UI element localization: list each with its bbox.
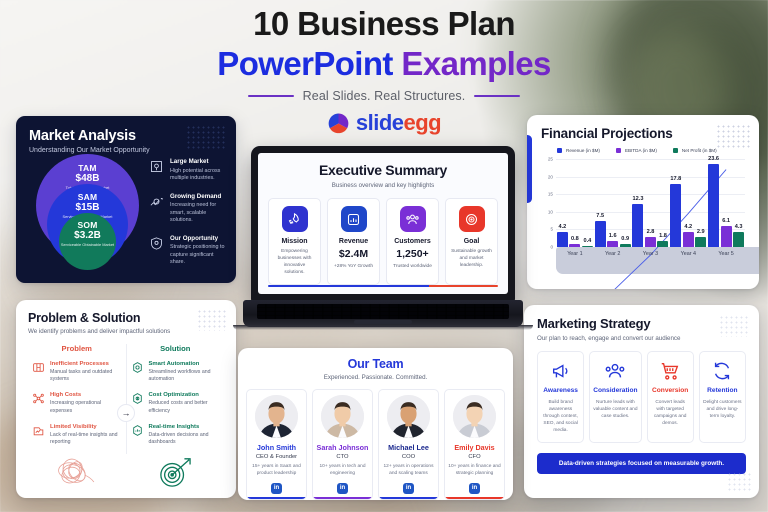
team-member-role: CTO xyxy=(316,454,369,460)
dot-grid-decoration-icon xyxy=(727,472,753,492)
executive-summary-title: Executive Summary xyxy=(268,162,498,178)
audience-icon xyxy=(604,369,626,386)
marketing-stage-retention: Retention Delight customers and drive lo… xyxy=(699,351,746,443)
page-title-powerpoint: PowerPoint xyxy=(217,45,393,82)
problem-item-title: High Costs xyxy=(50,391,122,399)
chart-bar: 4.2 xyxy=(683,232,694,247)
market-feature-title: Our Opportunity xyxy=(170,235,229,243)
team-member-role: CEO & Founder xyxy=(250,454,303,460)
linkedin-icon[interactable]: in xyxy=(469,483,480,494)
target-arrow-icon xyxy=(126,456,224,488)
chart-bar-group: 23.66.14.3 xyxy=(707,159,745,247)
chart-bar-label: 1.8 xyxy=(659,233,667,239)
laptop-shadow xyxy=(233,325,533,330)
laptop-base xyxy=(243,300,523,327)
logo-text-egg: egg xyxy=(404,110,442,135)
chart-bar-label: 12.3 xyxy=(633,196,644,202)
subtitle-row: Real Slides. Real Structures. xyxy=(0,89,768,103)
market-feature-desc: Strategic positioning to capture signifi… xyxy=(170,244,229,267)
team-member-accent-bar xyxy=(379,497,438,499)
problem-item-desc: Increasing operational expenses xyxy=(50,400,122,414)
kpi-value: 1,250+ xyxy=(391,248,434,260)
page-subtitle: Real Slides. Real Structures. xyxy=(303,89,466,103)
avatar xyxy=(321,395,364,438)
team-member-name: Michael Lee xyxy=(382,443,435,452)
chart-x-tick: Year 3 xyxy=(632,247,670,263)
chart-bar: 4.3 xyxy=(733,232,744,247)
refresh-cycle-icon xyxy=(711,369,733,386)
bar-chart-icon xyxy=(341,206,367,232)
chart-bar: 2.9 xyxy=(695,237,706,247)
chart-bar-label: 17.8 xyxy=(670,176,681,182)
problem-item-desc: Manual tasks and outdated systems xyxy=(50,369,122,383)
megaphone-icon xyxy=(550,369,572,386)
team-member-role: COO xyxy=(382,454,435,460)
chart-bar-label: 1.6 xyxy=(609,233,617,239)
kpi-list: Mission Empowering businesses with innov… xyxy=(268,198,498,285)
subtitle-rule-right xyxy=(474,95,520,97)
slideegg-logo[interactable]: slideegg xyxy=(0,110,768,136)
market-venn-diagram: TAM $48B Total Addressable Market SAM $1… xyxy=(36,154,139,271)
marketing-stage-desc: Delight customers and drive long-term lo… xyxy=(703,399,742,420)
market-feature-item: Our Opportunity Strategic positioning to… xyxy=(149,235,229,267)
team-member-name: Sarah Johnson xyxy=(316,443,369,452)
kpi-title: Customers xyxy=(391,238,434,245)
market-feature-item: Large Market High potential across multi… xyxy=(149,158,229,183)
kpi-desc: +28% YoY Growth xyxy=(332,263,375,270)
problem-item: Limited Visibility Lack of real-time ins… xyxy=(32,423,122,446)
problem-item: Inefficient Processes Manual tasks and o… xyxy=(32,360,122,383)
solution-item-title: Smart Automation xyxy=(149,360,221,368)
kpi-card-goal: Goal Sustainable growth and market leade… xyxy=(445,198,498,285)
team-member-accent-bar xyxy=(247,497,306,499)
rocket-icon xyxy=(282,206,308,232)
avatar xyxy=(255,395,298,438)
chart-y-tick: 5 xyxy=(550,227,553,232)
team-member-role: CFO xyxy=(448,454,501,460)
legend-label: Revenue (in $M) xyxy=(566,148,600,153)
linkedin-icon[interactable]: in xyxy=(403,483,414,494)
chart-x-tick: Year 4 xyxy=(669,247,707,263)
problem-solution-columns: → Problem Inefficient Processes Manual t… xyxy=(28,344,224,454)
chart-bar: 17.8 xyxy=(670,184,681,247)
chart-bar-group: 7.51.60.9 xyxy=(594,159,632,247)
solution-item-desc: Streamlined workflows and automation xyxy=(149,369,221,383)
laptop-mockup: Executive Summary Business overview and … xyxy=(243,146,523,333)
problem-solution-subtitle: We identify problems and deliver impactf… xyxy=(28,328,224,335)
problem-item-desc: Lack of real-time insights and reporting xyxy=(50,432,122,446)
solution-item-title: Real-time Insights xyxy=(149,423,221,431)
chart-x-tick: Year 2 xyxy=(594,247,632,263)
chart-bar-label: 0.9 xyxy=(621,236,629,242)
team-member-accent-bar xyxy=(313,497,372,499)
chart-bars: 4.20.80.47.51.60.912.32.81.817.84.22.923… xyxy=(556,159,745,247)
team-member-card[interactable]: Emily DavisCFO10+ years in finance and s… xyxy=(444,389,505,500)
team-member-list: John SmithCEO & Founder15+ years in SaaS… xyxy=(246,389,505,500)
chart-y-tick: 15 xyxy=(548,192,553,197)
chart-y-tick: 20 xyxy=(548,174,553,179)
marketing-title: Marketing Strategy xyxy=(537,316,746,331)
chart-bar: 12.3 xyxy=(632,204,643,247)
kpi-desc: Sustainable growth and market leadership… xyxy=(450,248,493,269)
solution-column: Solution Smart Automation Streamlined wo… xyxy=(127,344,225,454)
problem-item-title: Limited Visibility xyxy=(50,423,122,431)
chart-x-axis: Year 1Year 2Year 3Year 4Year 5 xyxy=(556,247,745,263)
legend-label: Net Profit (in $M) xyxy=(682,148,717,153)
chart-bar-group: 4.20.80.4 xyxy=(556,159,594,247)
team-member-card[interactable]: Michael LeeCOO12+ years in operations an… xyxy=(378,389,439,500)
logo-text-slide: slide xyxy=(356,110,404,135)
page-title-examples: Examples xyxy=(401,45,550,82)
laptop-trackpad xyxy=(354,320,412,324)
venn-tam-key: TAM xyxy=(78,163,96,173)
legend-swatch xyxy=(616,148,621,153)
chart-bar-label: 7.5 xyxy=(596,213,604,219)
solution-item: Cost Optimization Reduced costs and bett… xyxy=(131,391,221,414)
team-member-card[interactable]: John SmithCEO & Founder15+ years in SaaS… xyxy=(246,389,307,500)
kpi-value: $2.4M xyxy=(332,248,375,260)
chart-bar-label: 0.4 xyxy=(584,238,592,244)
marketing-stage-consideration: Consideration Nurture leads with valuabl… xyxy=(589,351,641,443)
users-icon xyxy=(400,206,426,232)
problem-column-header: Problem xyxy=(32,344,122,353)
chart-bar: 4.2 xyxy=(557,232,568,247)
page-title-line1: 10 Business Plan xyxy=(0,4,768,44)
venn-som-value: $3.2B xyxy=(74,230,101,241)
avatar xyxy=(453,395,496,438)
chart-bar-label: 2.9 xyxy=(697,229,705,235)
laptop-lid: Executive Summary Business overview and … xyxy=(251,146,515,302)
marketing-stage-title: Retention xyxy=(703,387,742,394)
page-title-line2: PowerPoint Examples xyxy=(0,44,768,84)
avatar xyxy=(387,395,430,438)
kpi-card-revenue: Revenue $2.4M +28% YoY Growth xyxy=(327,198,380,285)
venn-som-key: SOM xyxy=(78,220,98,230)
marketing-stage-conversion: Conversion Convert leads with targeted c… xyxy=(647,351,694,443)
venn-sam-value: $15B xyxy=(76,202,100,213)
kpi-title: Mission xyxy=(273,238,316,245)
legend-label: EBITDA (in $M) xyxy=(625,148,657,153)
chart-legend-item: Revenue (in $M) xyxy=(557,148,600,153)
linkedin-icon[interactable]: in xyxy=(271,483,282,494)
broken-process-icon xyxy=(32,361,45,374)
tangled-scribble-icon xyxy=(28,456,126,488)
team-title: Our Team xyxy=(246,357,505,371)
kpi-card-customers: Customers 1,250+ Trusted worldwide xyxy=(386,198,439,285)
kpi-desc: Trusted worldwide xyxy=(391,263,434,270)
chart-bar-label: 6.1 xyxy=(722,218,730,224)
chart-y-tick: 25 xyxy=(548,157,553,162)
chart-bar-group: 17.84.22.9 xyxy=(669,159,707,247)
kpi-card-mission: Mission Empowering businesses with innov… xyxy=(268,198,321,285)
team-member-name: Emily Davis xyxy=(448,443,501,452)
slide-card-market-analysis[interactable]: Market Analysis Understanding Our Market… xyxy=(16,116,236,283)
chart-y-axis: 2520151050 xyxy=(541,159,555,247)
slide-card-executive-summary[interactable]: Executive Summary Business overview and … xyxy=(258,153,508,294)
marketing-stage-title: Conversion xyxy=(651,387,690,394)
laptop-keyboard xyxy=(257,304,509,319)
chart-bar: 7.5 xyxy=(595,221,606,247)
problem-solution-title: Problem & Solution xyxy=(28,311,224,325)
team-member-desc: 10+ years in tech and engineering xyxy=(316,464,369,478)
subtitle-rule-left xyxy=(248,95,294,97)
market-feature-title: Growing Demand xyxy=(170,193,229,201)
team-member-name: John Smith xyxy=(250,443,303,452)
team-member-desc: 10+ years in finance and strategic plann… xyxy=(448,464,501,478)
automation-gear-icon xyxy=(131,361,144,374)
venn-som-desc: Serviceable Obtainable Market xyxy=(61,242,114,247)
chart-y-tick: 0 xyxy=(550,245,553,250)
chart-y-tick: 10 xyxy=(548,209,553,214)
chart-legend-item: EBITDA (in $M) xyxy=(616,148,657,153)
growth-gear-icon xyxy=(149,194,164,209)
market-feature-title: Large Market xyxy=(170,158,229,166)
dot-grid-decoration-icon xyxy=(197,309,227,331)
slide-card-our-team[interactable]: Our Team Experienced. Passionate. Commit… xyxy=(238,348,513,500)
marketing-stage-title: Awareness xyxy=(541,387,580,394)
insights-dashboard-icon xyxy=(131,424,144,437)
slide-card-marketing-strategy[interactable]: Marketing Strategy Our plan to reach, en… xyxy=(524,305,759,498)
chart-bar-label: 4.3 xyxy=(735,224,743,230)
chart-bar-label: 4.2 xyxy=(684,224,692,230)
market-feature-list: Large Market High potential across multi… xyxy=(149,158,229,277)
logo-wordmark: slideegg xyxy=(356,110,441,136)
chart-bar: 6.1 xyxy=(721,226,732,247)
problem-solution-artwork xyxy=(28,456,224,488)
limited-visibility-icon xyxy=(32,424,45,437)
shopping-cart-icon xyxy=(659,369,681,386)
problem-item: High Costs Increasing operational expens… xyxy=(32,391,122,414)
legend-swatch xyxy=(673,148,678,153)
chart-bar-label: 2.8 xyxy=(647,229,655,235)
slide-card-financial-projections[interactable]: Financial Projections Revenue (in $M)EBI… xyxy=(527,115,759,289)
marketing-stage-desc: Convert leads with targeted campaigns an… xyxy=(651,399,690,427)
shield-icon xyxy=(149,236,164,251)
linkedin-icon[interactable]: in xyxy=(337,483,348,494)
solution-item: Smart Automation Streamlined workflows a… xyxy=(131,360,221,383)
chart-plot-area: 2520151050 4.20.80.47.51.60.912.32.81.81… xyxy=(541,159,747,263)
marketing-banner: Data-driven strategies focused on measur… xyxy=(537,453,746,474)
solution-item-title: Cost Optimization xyxy=(149,391,221,399)
kpi-title: Goal xyxy=(450,238,493,245)
venn-tam-value: $48B xyxy=(76,173,100,184)
arrow-right-icon: → xyxy=(117,404,135,422)
venn-sam-key: SAM xyxy=(78,192,98,202)
cost-node-icon xyxy=(32,392,45,405)
marketing-stage-awareness: Awareness Build brand awareness through … xyxy=(537,351,584,443)
marketing-stage-title: Consideration xyxy=(593,387,637,394)
solution-item-desc: Reduced costs and better efficiency xyxy=(149,400,221,414)
dot-grid-decoration-icon xyxy=(719,315,749,337)
team-member-accent-bar xyxy=(445,497,504,499)
legend-swatch xyxy=(557,148,562,153)
chart-bar-label: 23.6 xyxy=(708,156,719,162)
market-feature-desc: High potential across multiple industrie… xyxy=(170,168,229,183)
team-member-desc: 15+ years in SaaS and product leadership xyxy=(250,464,303,478)
solution-item-desc: Data-driven decisions and dashboards xyxy=(149,432,221,446)
chart-bar: 2.8 xyxy=(645,237,656,247)
chart-legend-item: Net Profit (in $M) xyxy=(673,148,717,153)
marketing-stage-list: Awareness Build brand awareness through … xyxy=(537,351,746,443)
problem-column: Problem Inefficient Processes Manual tas… xyxy=(28,344,127,454)
target-icon xyxy=(459,206,485,232)
marketing-stage-desc: Build brand awareness through content, S… xyxy=(541,399,580,434)
kpi-title: Revenue xyxy=(332,238,375,245)
marketing-subtitle: Our plan to reach, engage and convert ou… xyxy=(537,335,746,342)
slide-accent-underline xyxy=(268,285,498,287)
venn-circle-som: SOM $3.2B Serviceable Obtainable Market xyxy=(59,213,116,270)
slide-card-problem-solution[interactable]: Problem & Solution We identify problems … xyxy=(16,300,236,498)
team-member-desc: 12+ years in operations and scaling team… xyxy=(382,464,435,478)
chart-x-tick: Year 1 xyxy=(556,247,594,263)
team-member-card[interactable]: Sarah JohnsonCTO10+ years in tech and en… xyxy=(312,389,373,500)
team-subtitle: Experienced. Passionate. Committed. xyxy=(246,374,505,381)
solution-column-header: Solution xyxy=(131,344,221,353)
chart-bar-label: 0.8 xyxy=(571,236,579,242)
market-feature-item: Growing Demand Increasing need for smart… xyxy=(149,193,229,225)
marketing-stage-desc: Nurture leads with valuable content and … xyxy=(593,399,637,420)
chart-bar-group: 12.32.81.8 xyxy=(632,159,670,247)
page-header: 10 Business Plan PowerPoint Examples Rea… xyxy=(0,4,768,103)
slideegg-logo-icon xyxy=(327,112,350,135)
chart-x-tick: Year 5 xyxy=(707,247,745,263)
chart-bar: 23.6 xyxy=(708,164,719,247)
solution-item: Real-time Insights Data-driven decisions… xyxy=(131,423,221,446)
kpi-desc: Empowering businesses with innovative so… xyxy=(273,248,316,276)
market-feature-desc: Increasing need for smart, scalable solu… xyxy=(170,202,229,225)
cost-optimization-icon xyxy=(131,392,144,405)
location-pin-icon xyxy=(149,159,164,174)
problem-item-title: Inefficient Processes xyxy=(50,360,122,368)
chart-bar-label: 4.2 xyxy=(559,224,567,230)
executive-summary-subtitle: Business overview and key highlights xyxy=(268,182,498,189)
